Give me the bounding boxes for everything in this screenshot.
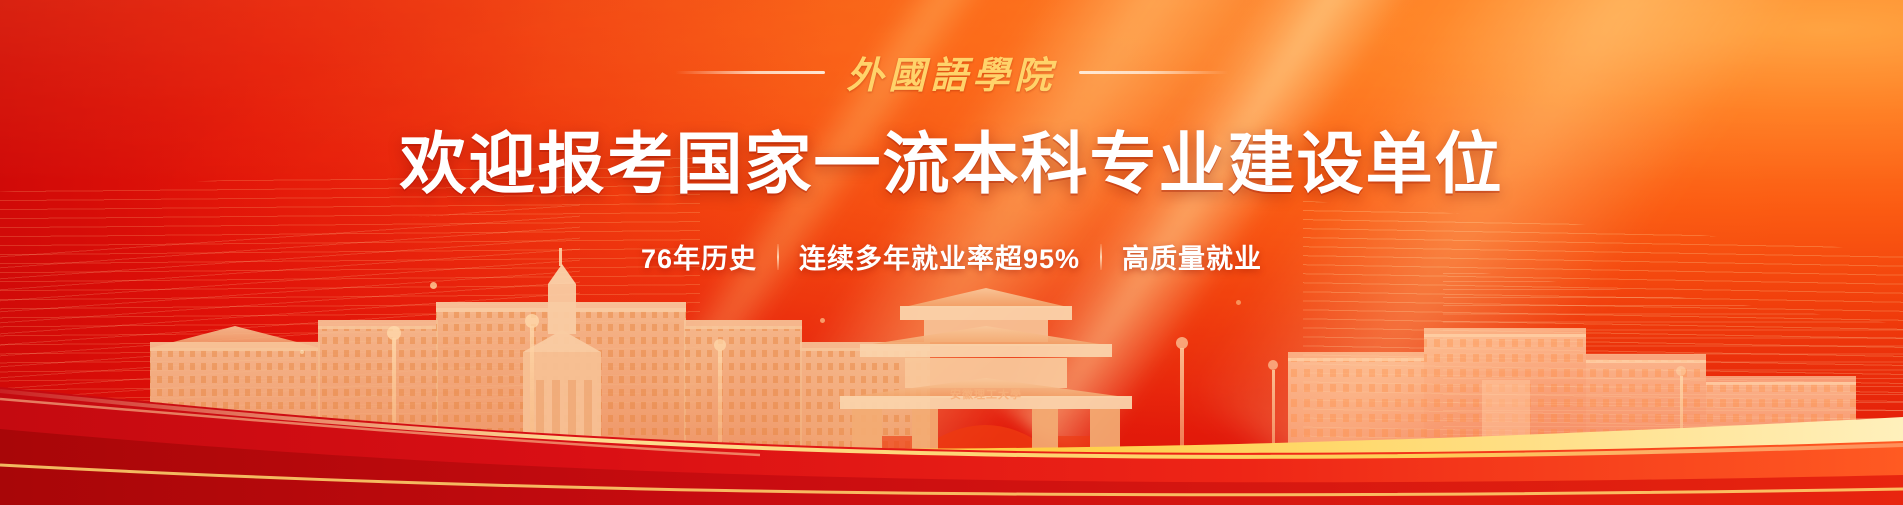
institution-calligraphy-title: 外國語學院 — [847, 45, 1057, 99]
banner-subtitle-row: 76年历史 连续多年就业率超95% 高质量就业 — [641, 237, 1262, 276]
subtitle-separator — [777, 244, 779, 270]
subtitle-item-employment: 连续多年就业率超95% — [799, 237, 1080, 276]
institution-title-row: 外國語學院 — [675, 48, 1229, 96]
admissions-banner: 安徽理工大學 — [0, 0, 1903, 505]
divider-rule-left — [675, 71, 825, 74]
divider-rule-right — [1079, 71, 1229, 74]
subtitle-separator — [1100, 244, 1102, 270]
banner-headline: 欢迎报考国家一流本科专业建设单位 — [400, 110, 1504, 207]
subtitle-item-history: 76年历史 — [641, 237, 757, 276]
banner-content: 外國語學院 欢迎报考国家一流本科专业建设单位 76年历史 连续多年就业率超95%… — [0, 0, 1903, 505]
subtitle-item-quality: 高质量就业 — [1122, 237, 1262, 276]
